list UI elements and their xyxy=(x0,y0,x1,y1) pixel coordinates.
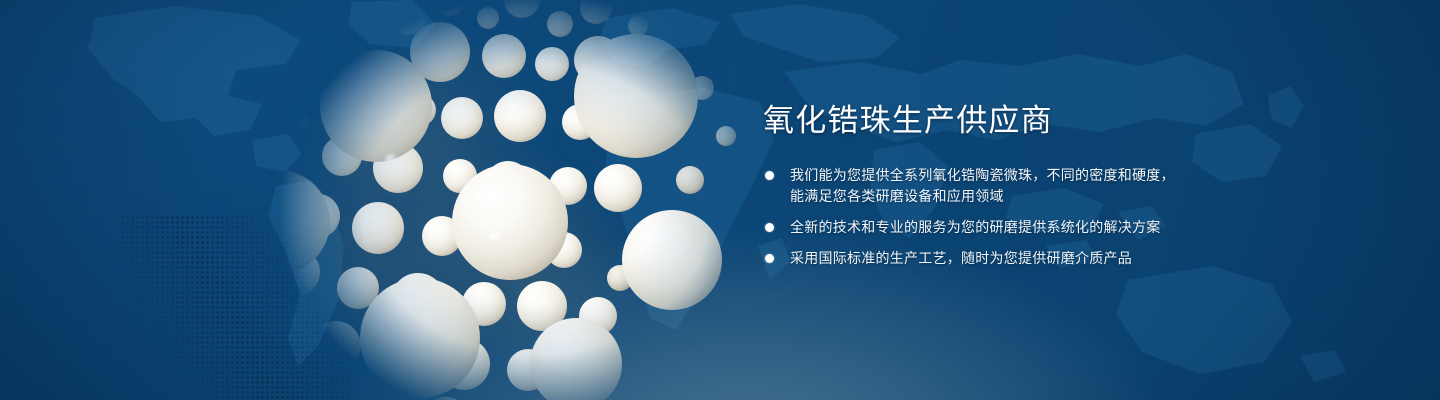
bullet-dot-icon xyxy=(765,223,774,232)
feature-list-item: 全新的技术和专业的服务为您的研磨提供系统化的解决方案 xyxy=(763,217,1323,238)
banner-headline: 氧化锆珠生产供应商 xyxy=(763,104,1323,139)
feature-text-line: 我们能为您提供全系列氧化锆陶瓷微珠，不同的密度和硬度， xyxy=(790,165,1323,186)
feature-list-item: 我们能为您提供全系列氧化锆陶瓷微珠，不同的密度和硬度， 能满足您各类研磨设备和应… xyxy=(763,165,1323,207)
feature-text-line: 能满足您各类研磨设备和应用领域 xyxy=(790,186,1323,207)
feature-list-item: 采用国际标准的生产工艺，随时为您提供研磨介质产品 xyxy=(763,248,1323,269)
bullet-dot-icon xyxy=(765,254,774,263)
hero-banner: 氧化锆珠生产供应商 我们能为您提供全系列氧化锆陶瓷微珠，不同的密度和硬度， 能满… xyxy=(0,0,1440,400)
zirconia-beads-photo xyxy=(90,0,810,400)
banner-copy-block: 氧化锆珠生产供应商 我们能为您提供全系列氧化锆陶瓷微珠，不同的密度和硬度， 能满… xyxy=(763,104,1323,269)
feature-text-line: 全新的技术和专业的服务为您的研磨提供系统化的解决方案 xyxy=(790,217,1323,238)
feature-text-line: 采用国际标准的生产工艺，随时为您提供研磨介质产品 xyxy=(790,248,1323,269)
bullet-dot-icon xyxy=(765,171,774,180)
banner-feature-list: 我们能为您提供全系列氧化锆陶瓷微珠，不同的密度和硬度， 能满足您各类研磨设备和应… xyxy=(763,165,1323,269)
